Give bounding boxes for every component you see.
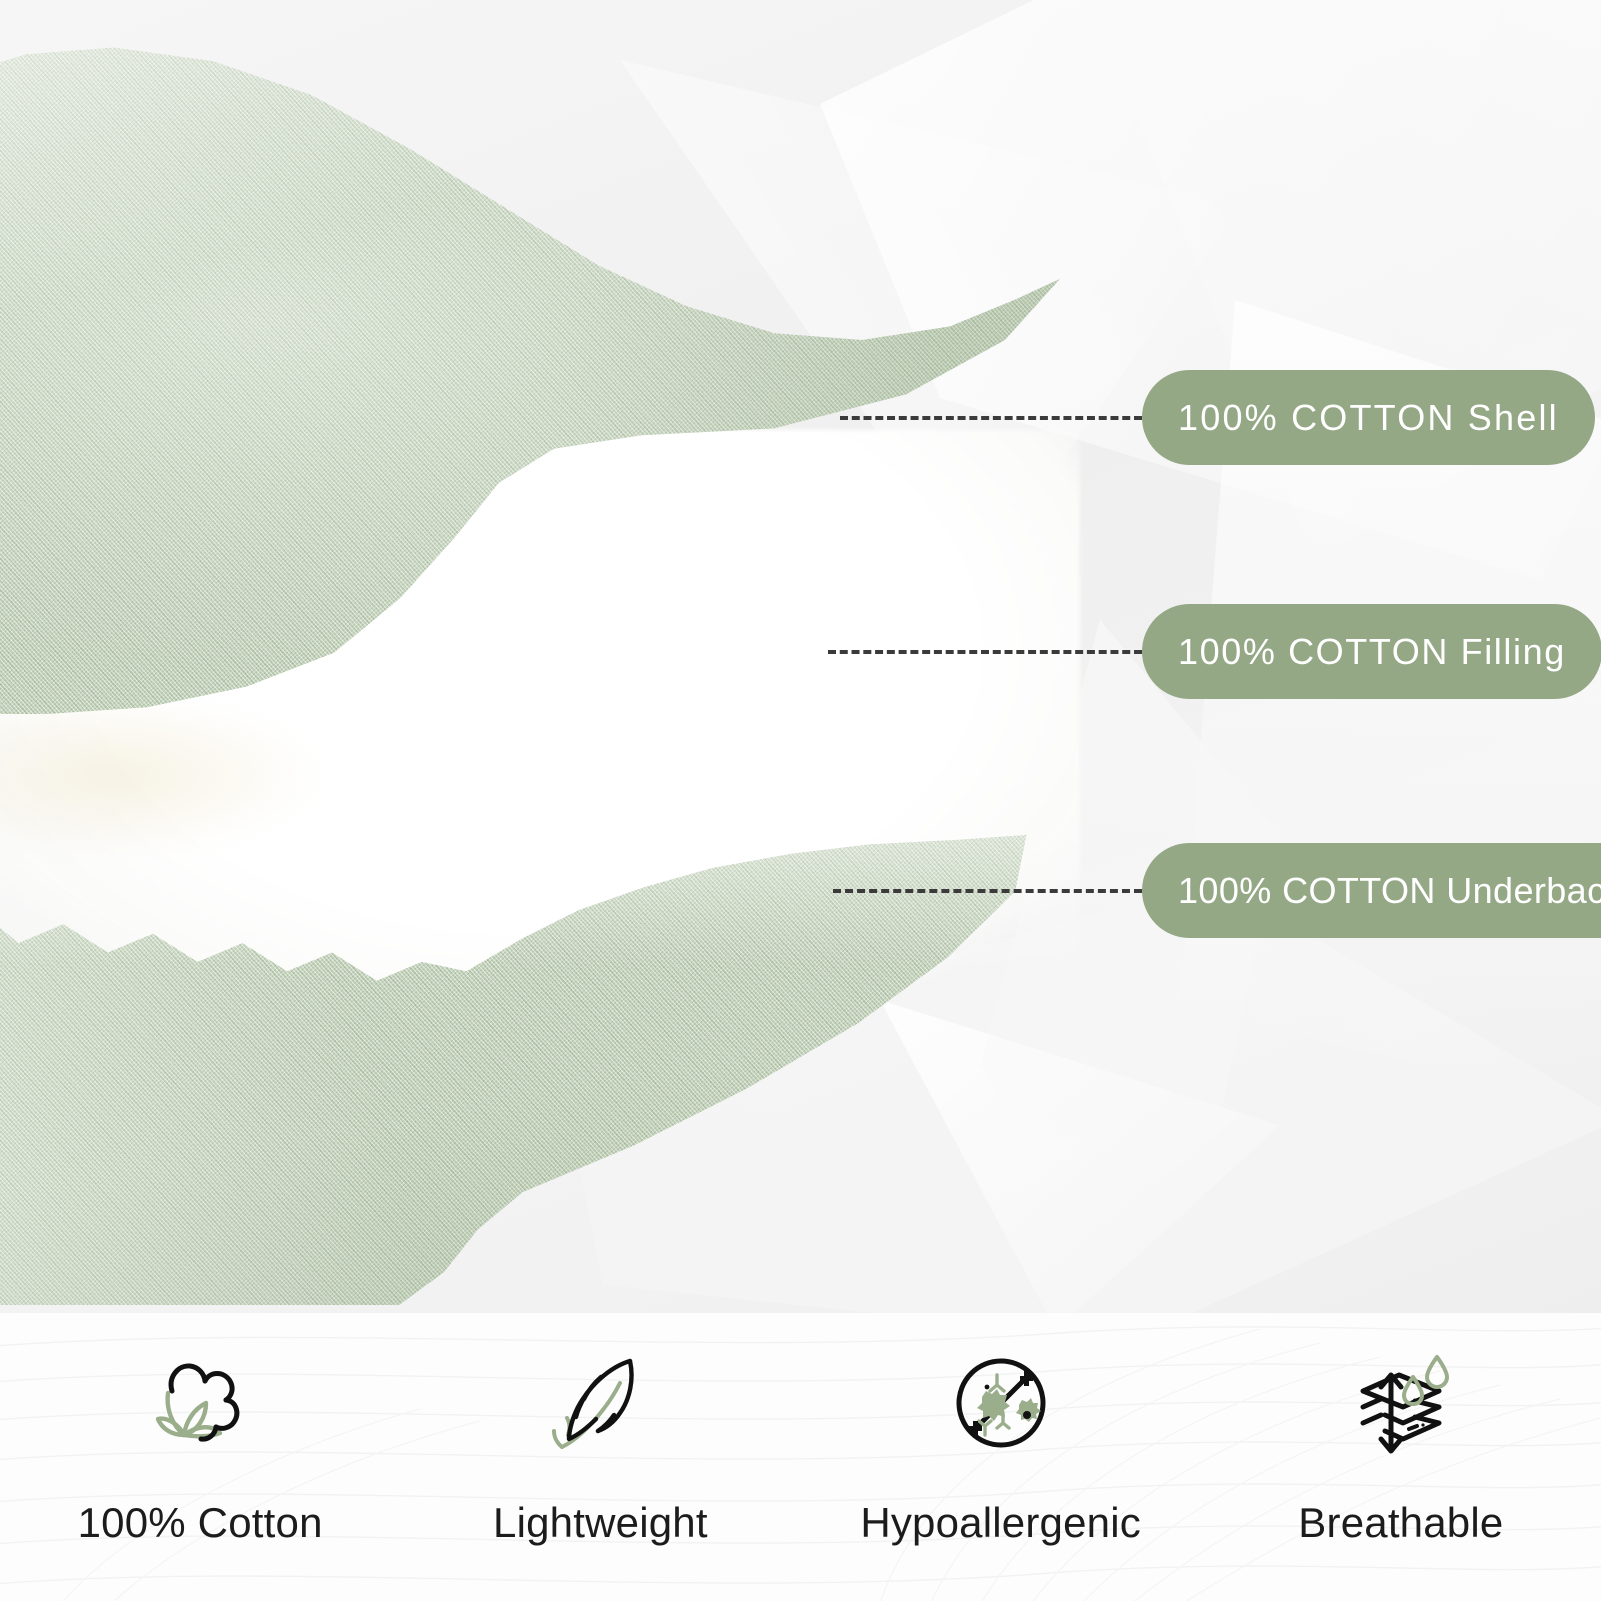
feature-label-lightweight: Lightweight (493, 1499, 708, 1547)
callout-label-filling: 100% COTTON Filling (1142, 604, 1601, 699)
leader-line-filling (828, 650, 1142, 654)
leader-line-shell (840, 416, 1142, 420)
feature-item-cotton: 100% Cotton (0, 1313, 400, 1547)
cotton-boll-icon (140, 1343, 260, 1463)
feature-item-hypoallergenic: Hypoallergenic (801, 1313, 1201, 1547)
feature-label-breathable: Breathable (1298, 1499, 1503, 1547)
feature-label-hypoallergenic: Hypoallergenic (860, 1499, 1141, 1547)
callout-shell: 100% COTTON Shell (840, 370, 1595, 465)
product-infographic: 100% COTTON Shell 100% COTTON Filling 10… (0, 0, 1601, 1601)
cotton-filling-shadow (0, 690, 330, 860)
callout-filling: 100% COTTON Filling (828, 604, 1601, 699)
breathable-layers-icon (1341, 1343, 1461, 1463)
callout-underback: 100% COTTON Underback (833, 843, 1601, 938)
feature-list: 100% Cotton (0, 1313, 1601, 1601)
feature-item-breathable: Breathable (1201, 1313, 1601, 1547)
no-allergen-icon (941, 1343, 1061, 1463)
feature-item-lightweight: Lightweight (400, 1313, 800, 1547)
feature-band: 100% Cotton (0, 1313, 1601, 1601)
feather-icon (540, 1343, 660, 1463)
leader-line-underback (833, 889, 1142, 893)
callout-label-underback: 100% COTTON Underback (1142, 843, 1601, 938)
callout-label-shell: 100% COTTON Shell (1142, 370, 1595, 465)
feature-label-cotton: 100% Cotton (78, 1499, 323, 1547)
